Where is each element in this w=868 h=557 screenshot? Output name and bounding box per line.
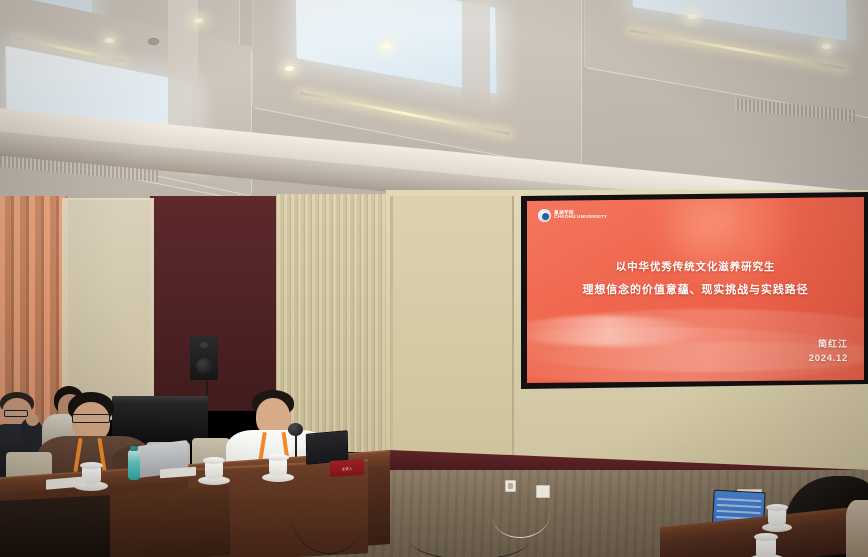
laptop-text-line — [717, 504, 761, 508]
foreground-chair-dark — [0, 495, 120, 557]
pa-loudspeaker — [190, 336, 218, 380]
slide-date: 2024.12 — [809, 353, 848, 364]
teacup-lid-3 — [267, 454, 289, 461]
foreground-teacup-lid-2 — [754, 533, 778, 541]
ceiling-downlight-6 — [688, 14, 697, 19]
speaker-tweeter-icon — [200, 342, 208, 348]
slide-university-logo: 巢湖学院 CHAOHU UNIVERSITY — [538, 209, 607, 222]
wall-door-panel — [390, 196, 514, 472]
slide-presenter-name: 简红江 — [809, 337, 848, 350]
ceiling-beam-b — [462, 0, 490, 113]
smoke-detector-icon — [148, 38, 159, 45]
ceiling-downlight-1 — [105, 38, 114, 43]
ceiling-downlight-4 — [382, 44, 391, 49]
attendee-glasses-eyewear — [72, 414, 110, 423]
presentation-slide: 巢湖学院 CHAOHU UNIVERSITY 以中华优秀传统文化滋养研究生 理想… — [527, 197, 864, 383]
ceiling-downlight-5 — [822, 44, 831, 49]
microphone-head-icon — [288, 423, 303, 436]
university-logo-text: 巢湖学院 CHAOHU UNIVERSITY — [554, 211, 607, 220]
laptop-text-line — [717, 498, 761, 502]
floor-cable-dark — [410, 520, 530, 557]
foreground-teacup-lid-1 — [766, 504, 788, 511]
speaker-cone-icon — [196, 358, 212, 374]
foreground-table-edge-left — [110, 485, 230, 557]
laptop-text-line — [717, 510, 761, 514]
attendee-far-left-glasses — [4, 410, 28, 417]
water-bottle-cap[interactable] — [130, 446, 138, 451]
teacup-lid-1 — [80, 462, 103, 469]
wall-outlet-left — [505, 480, 516, 492]
water-bottle[interactable] — [128, 450, 140, 480]
slide-presenter-block: 简红江 2024.12 — [809, 337, 848, 364]
slide-title-line-2: 理想信念的价值意蕴、现实挑战与实践路径 — [527, 281, 864, 297]
ceiling — [0, 0, 868, 200]
attendee-right-edge — [846, 500, 868, 557]
ceiling-downlight-3 — [285, 66, 294, 71]
teacup-lid-2 — [203, 457, 225, 464]
ceiling-downlight-2 — [194, 18, 203, 23]
university-name-en: CHAOHU UNIVERSITY — [554, 215, 607, 220]
university-seal-icon — [538, 209, 551, 222]
conference-room-photo: 巢湖学院 CHAOHU UNIVERSITY 以中华优秀传统文化滋养研究生 理想… — [0, 0, 868, 557]
slide-title-line-1: 以中华优秀传统文化滋养研究生 — [527, 259, 864, 274]
